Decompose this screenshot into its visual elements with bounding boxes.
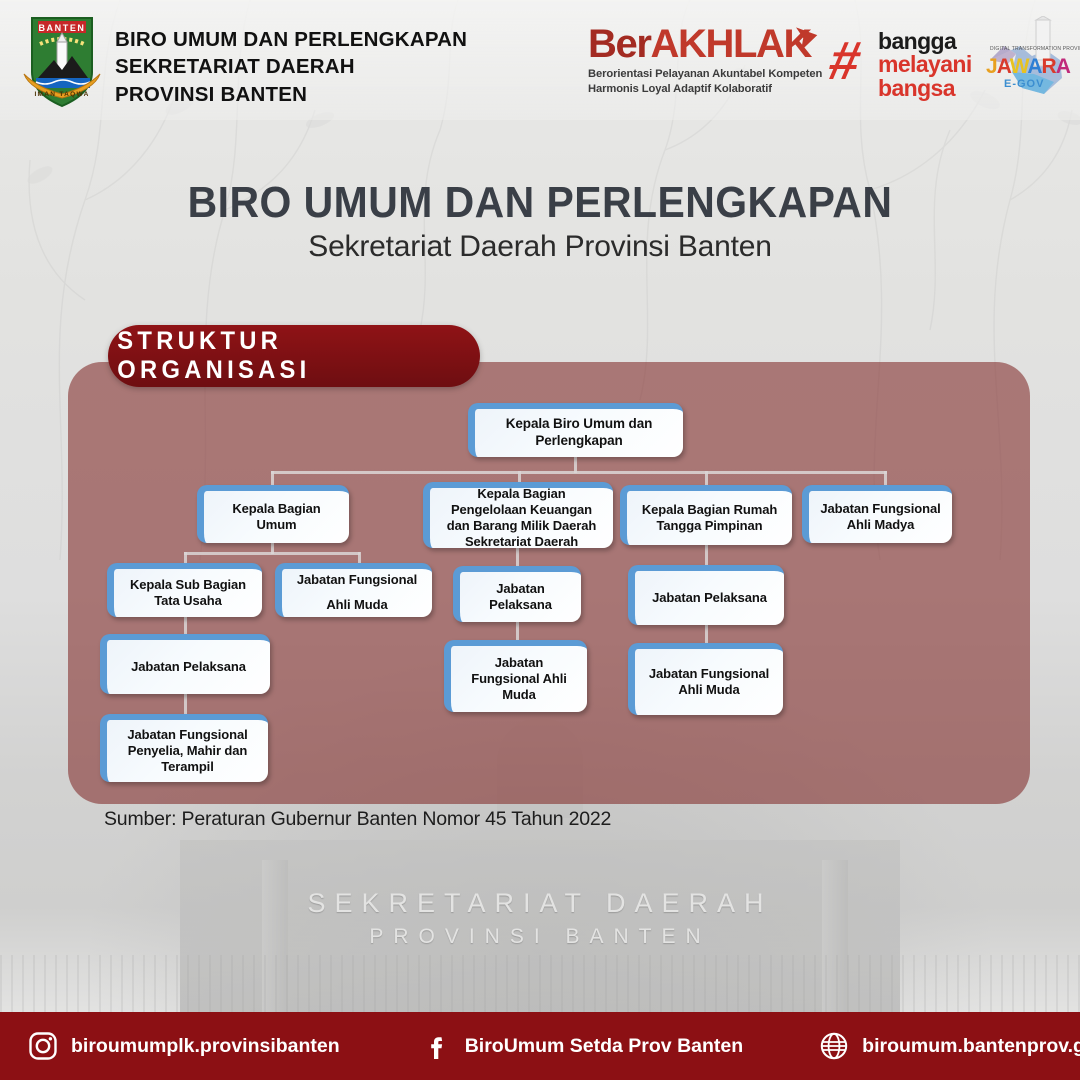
- bangga-line-3: bangsa: [878, 77, 972, 100]
- org-node-label: Jabatan Fungsional Ahli Muda: [635, 664, 783, 701]
- facebook-icon: [422, 1031, 452, 1061]
- org-title-line-3: PROVINSI BANTEN: [115, 81, 467, 108]
- org-node-kepala-biro[interactable]: Kepala Biro Umum dan Perlengkapan: [468, 403, 683, 457]
- org-node-label: Jabatan Pelaksana: [644, 588, 775, 608]
- org-node-label: Jabatan Pelaksana: [460, 579, 581, 616]
- bangga-line-1: bangga: [878, 30, 972, 53]
- bangga-line-2: melayani: [878, 53, 972, 76]
- connector-n9-to-n12: [184, 694, 187, 714]
- banten-provincial-crest-icon: BANTEN IMAN TAQWA: [18, 12, 106, 108]
- building-fence: [0, 955, 1080, 1015]
- building-sign-line-2: PROVINSI BANTEN: [0, 925, 1080, 949]
- org-node-kepala-bagian-pengelolaan-keuangan[interactable]: Kepala Bagian Pengelolaan Keuangan dan B…: [423, 482, 613, 548]
- org-node-label: Jabatan Pelaksana: [123, 657, 254, 677]
- berakhlak-akhlak: AKHLAK: [651, 22, 811, 66]
- bangga-wordmark: bangga melayani bangsa: [878, 30, 972, 100]
- page-title: BIRO UMUM DAN PERLENGKAPAN: [38, 178, 1042, 228]
- hashtag-icon: #: [824, 34, 866, 88]
- connector-n7-to-n10: [516, 622, 519, 640]
- footer-bar: biroumumplk.provinsibanten BiroUmum Setd…: [0, 1012, 1080, 1080]
- struktur-organisasi-banner: STRUKTUR ORGANISASI: [108, 325, 480, 387]
- org-node-label: Jabatan Fungsional Ahli Muda: [451, 653, 587, 706]
- jawara-wordmark: JAWARA: [986, 56, 1070, 77]
- source-note: Sumber: Peraturan Gubernur Banten Nomor …: [104, 808, 611, 831]
- berakhlak-tagline: Berorientasi Pelayanan Akuntabel Kompete…: [588, 67, 828, 97]
- instagram-icon: [28, 1031, 58, 1061]
- berakhlak-ber: Ber: [588, 22, 651, 66]
- connector-level1-bus: [271, 471, 887, 474]
- page-subtitle: Sekretariat Daerah Provinsi Banten: [0, 230, 1080, 264]
- footer-facebook[interactable]: BiroUmum Setda Prov Banten: [422, 1031, 743, 1061]
- org-node-label: Jabatan Fungsional Penyelia, Mahir dan T…: [107, 725, 268, 778]
- footer-website-handle: biroumum.bantenprov.go.id: [862, 1035, 1080, 1058]
- org-node-label: Kepala Bagian Pengelolaan Keuangan dan B…: [430, 484, 613, 553]
- org-node-label: Kepala Sub Bagian Tata Usaha: [114, 575, 262, 612]
- org-node-jabatan-pelaksana-2[interactable]: Jabatan Pelaksana: [628, 565, 784, 625]
- org-node-jabatan-pelaksana-3[interactable]: Jabatan Pelaksana: [100, 634, 270, 694]
- connector-n3-to-n8: [705, 545, 708, 565]
- org-node-jabatan-fungsional-ahli-muda-3[interactable]: Jabatan Fungsional Ahli Muda: [628, 643, 783, 715]
- jawara-tagline: DIGITAL TRANSFORMATION PROVINSI BANTEN: [990, 46, 1080, 52]
- building-sign-line-1: SEKRETARIAT DAERAH: [0, 888, 1080, 919]
- connector-bus-to-n1: [271, 471, 274, 485]
- org-title-line-1: BIRO UMUM DAN PERLENGKAPAN: [115, 26, 467, 53]
- org-node-label: Kepala Biro Umum dan Perlengkapan: [475, 414, 683, 452]
- org-node-jabatan-pelaksana-1[interactable]: Jabatan Pelaksana: [453, 566, 581, 622]
- berakhlak-wordmark: BerAKHLAK ➤: [588, 24, 828, 64]
- org-node-label: Kepala Bagian Umum: [204, 499, 349, 536]
- org-title-line-2: SEKRETARIAT DAERAH: [115, 53, 467, 80]
- header-bar: BANTEN IMAN TAQWA BIRO UMUM DAN PERLENGK…: [0, 0, 1080, 120]
- footer-facebook-handle: BiroUmum Setda Prov Banten: [465, 1035, 743, 1058]
- connector-bus-to-n3: [705, 471, 708, 485]
- org-node-kepala-bagian-rumah-tangga-pimpinan[interactable]: Kepala Bagian Rumah Tangga Pimpinan: [620, 485, 792, 545]
- berakhlak-logo: BerAKHLAK ➤ Berorientasi Pelayanan Akunt…: [588, 24, 828, 97]
- svg-text:IMAN TAQWA: IMAN TAQWA: [34, 91, 89, 98]
- footer-instagram-handle: biroumumplk.provinsibanten: [71, 1035, 340, 1058]
- struktur-organisasi-label: STRUKTUR ORGANISASI: [117, 327, 470, 385]
- berakhlak-tagline-line-2: Harmonis Loyal Adaptif Kolaboratif: [588, 82, 828, 97]
- org-node-jabatan-fungsional-ahli-muda-2[interactable]: Jabatan Fungsional Ahli Muda: [444, 640, 587, 712]
- connector-n8-to-n11: [705, 625, 708, 643]
- globe-icon: [819, 1031, 849, 1061]
- footer-instagram[interactable]: biroumumplk.provinsibanten: [28, 1031, 340, 1061]
- jawara-egov-sub: E-GOV: [1004, 78, 1044, 90]
- footer-website[interactable]: biroumum.bantenprov.go.id: [819, 1031, 1080, 1061]
- connector-n1-bus: [184, 552, 360, 555]
- berakhlak-tagline-line-1: Berorientasi Pelayanan Akuntabel Kompete…: [588, 67, 828, 82]
- svg-text:BANTEN: BANTEN: [38, 23, 85, 33]
- organization-title: BIRO UMUM DAN PERLENGKAPAN SEKRETARIAT D…: [115, 26, 467, 108]
- org-node-label: Kepala Bagian Rumah Tangga Pimpinan: [627, 500, 792, 537]
- org-node-jabatan-fungsional-penyelia[interactable]: Jabatan Fungsional Penyelia, Mahir dan T…: [100, 714, 268, 782]
- org-node-jabatan-fungsional-ahli-madya[interactable]: Jabatan Fungsional Ahli Madya: [802, 485, 952, 543]
- jawara-egov-logo-icon: DIGITAL TRANSFORMATION PROVINSI BANTEN J…: [982, 16, 1074, 108]
- org-node-label: Jabatan Fungsional Ahli Madya: [809, 499, 952, 536]
- connector-bus-to-n4: [884, 471, 887, 485]
- org-node-kepala-bagian-umum[interactable]: Kepala Bagian Umum: [197, 485, 349, 543]
- org-node-kepala-sub-bagian-tata-usaha[interactable]: Kepala Sub Bagian Tata Usaha: [107, 563, 262, 617]
- connector-n5-to-n9: [184, 617, 187, 635]
- org-node-jabatan-fungsional-ahli-muda-1[interactable]: Jabatan Fungsional Ahli Muda: [275, 563, 432, 617]
- org-node-label: Jabatan Fungsional Ahli Muda: [282, 566, 432, 619]
